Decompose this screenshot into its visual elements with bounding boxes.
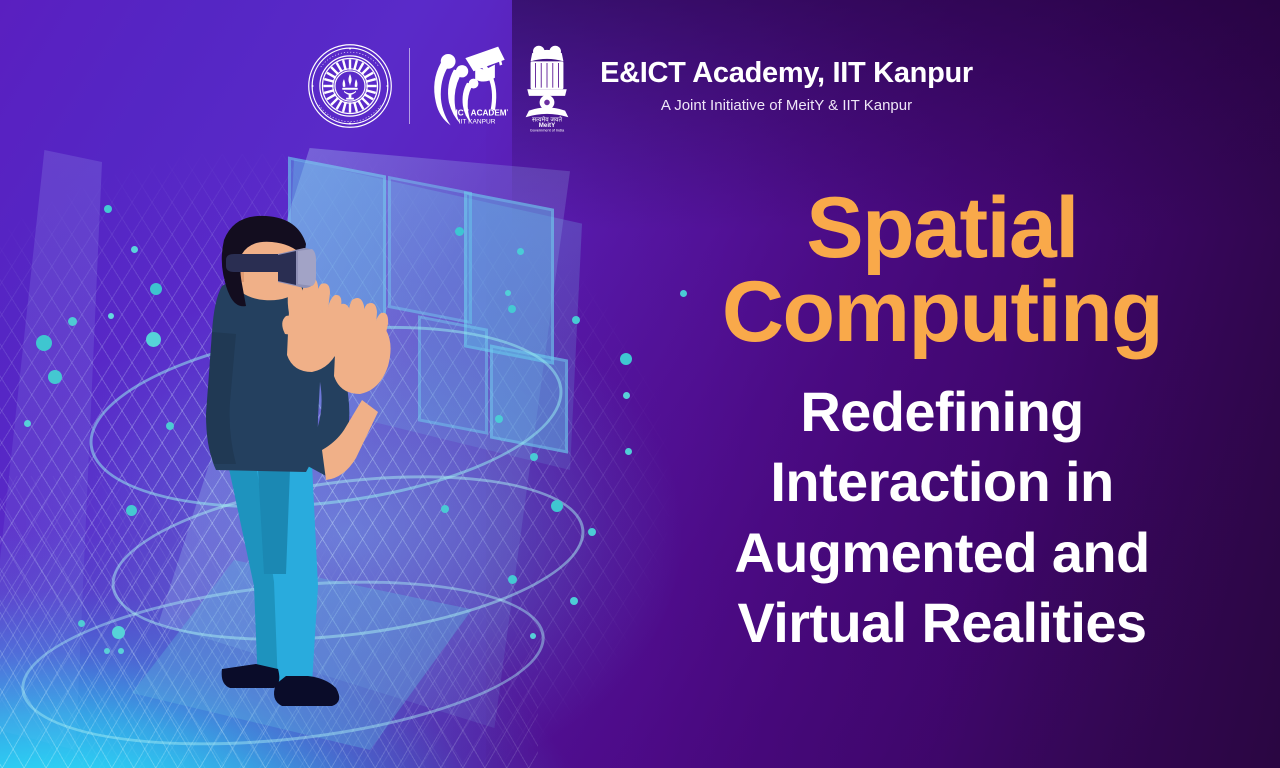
ict-academy-sublabel: IIT KANPUR — [459, 119, 496, 126]
vr-user-illustration — [186, 214, 396, 714]
floating-dot — [508, 575, 517, 584]
floating-dot — [78, 620, 85, 627]
floating-dot — [530, 453, 538, 461]
floating-dot — [104, 205, 112, 213]
floating-dot — [505, 290, 511, 296]
logo-divider — [409, 48, 410, 124]
promotional-banner: ICT ACADEMY IIT KANPUR — [0, 0, 1280, 768]
floating-dot — [572, 316, 580, 324]
ict-academy-logo-icon: ICT ACADEMY IIT KANPUR — [426, 40, 508, 132]
floating-dot — [495, 415, 503, 423]
floating-dot — [623, 392, 630, 399]
floating-dot — [68, 317, 77, 326]
iit-kanpur-seal-icon — [307, 43, 393, 129]
orbit-ring-endpoint-dot — [112, 626, 125, 639]
main-subtitle-line-1: Redefining — [662, 377, 1222, 448]
floating-dot — [131, 246, 138, 253]
floating-dot — [455, 227, 464, 236]
floating-dot — [620, 353, 632, 365]
header-title: E&ICT Academy, IIT Kanpur — [600, 58, 973, 90]
floating-dot — [48, 370, 62, 384]
orbit-ring-endpoint-dot — [146, 332, 161, 347]
main-title-line-1: Spatial — [662, 186, 1222, 270]
floating-dot — [24, 420, 31, 427]
header-subtitle: A Joint Initiative of MeitY & IIT Kanpur — [661, 97, 912, 114]
floating-dot — [551, 500, 563, 512]
floating-dot — [441, 505, 449, 513]
header-logo-bar: ICT ACADEMY IIT KANPUR — [0, 40, 1280, 132]
floating-dot — [517, 248, 524, 255]
floating-dot — [166, 422, 174, 430]
main-subtitle-line-4: Virtual Realities — [662, 588, 1222, 659]
floating-dot — [508, 305, 516, 313]
floating-dot — [530, 633, 536, 639]
main-subtitle-line-3: Augmented and — [662, 518, 1222, 589]
floating-dot — [36, 335, 52, 351]
floating-dot — [625, 448, 632, 455]
main-content-block: Spatial Computing Redefining Interaction… — [662, 186, 1222, 659]
meity-govt-label: Government of India — [530, 129, 565, 132]
ict-academy-label: ICT ACADEMY — [456, 109, 508, 118]
floating-dot — [118, 648, 124, 654]
main-subtitle: Redefining Interaction in Augmented and … — [662, 377, 1222, 659]
floating-dot — [126, 505, 137, 516]
floating-dot — [108, 313, 114, 319]
meity-emblem-icon: सत्यमेव जयते MeitY Government of India — [516, 40, 578, 132]
main-subtitle-line-2: Interaction in — [662, 447, 1222, 518]
floating-dot — [570, 597, 578, 605]
floating-dot — [104, 648, 110, 654]
floating-dot — [150, 283, 162, 295]
floating-dot — [588, 528, 596, 536]
header-text-block: E&ICT Academy, IIT Kanpur A Joint Initia… — [600, 58, 973, 114]
main-title-line-2: Computing — [662, 270, 1222, 354]
